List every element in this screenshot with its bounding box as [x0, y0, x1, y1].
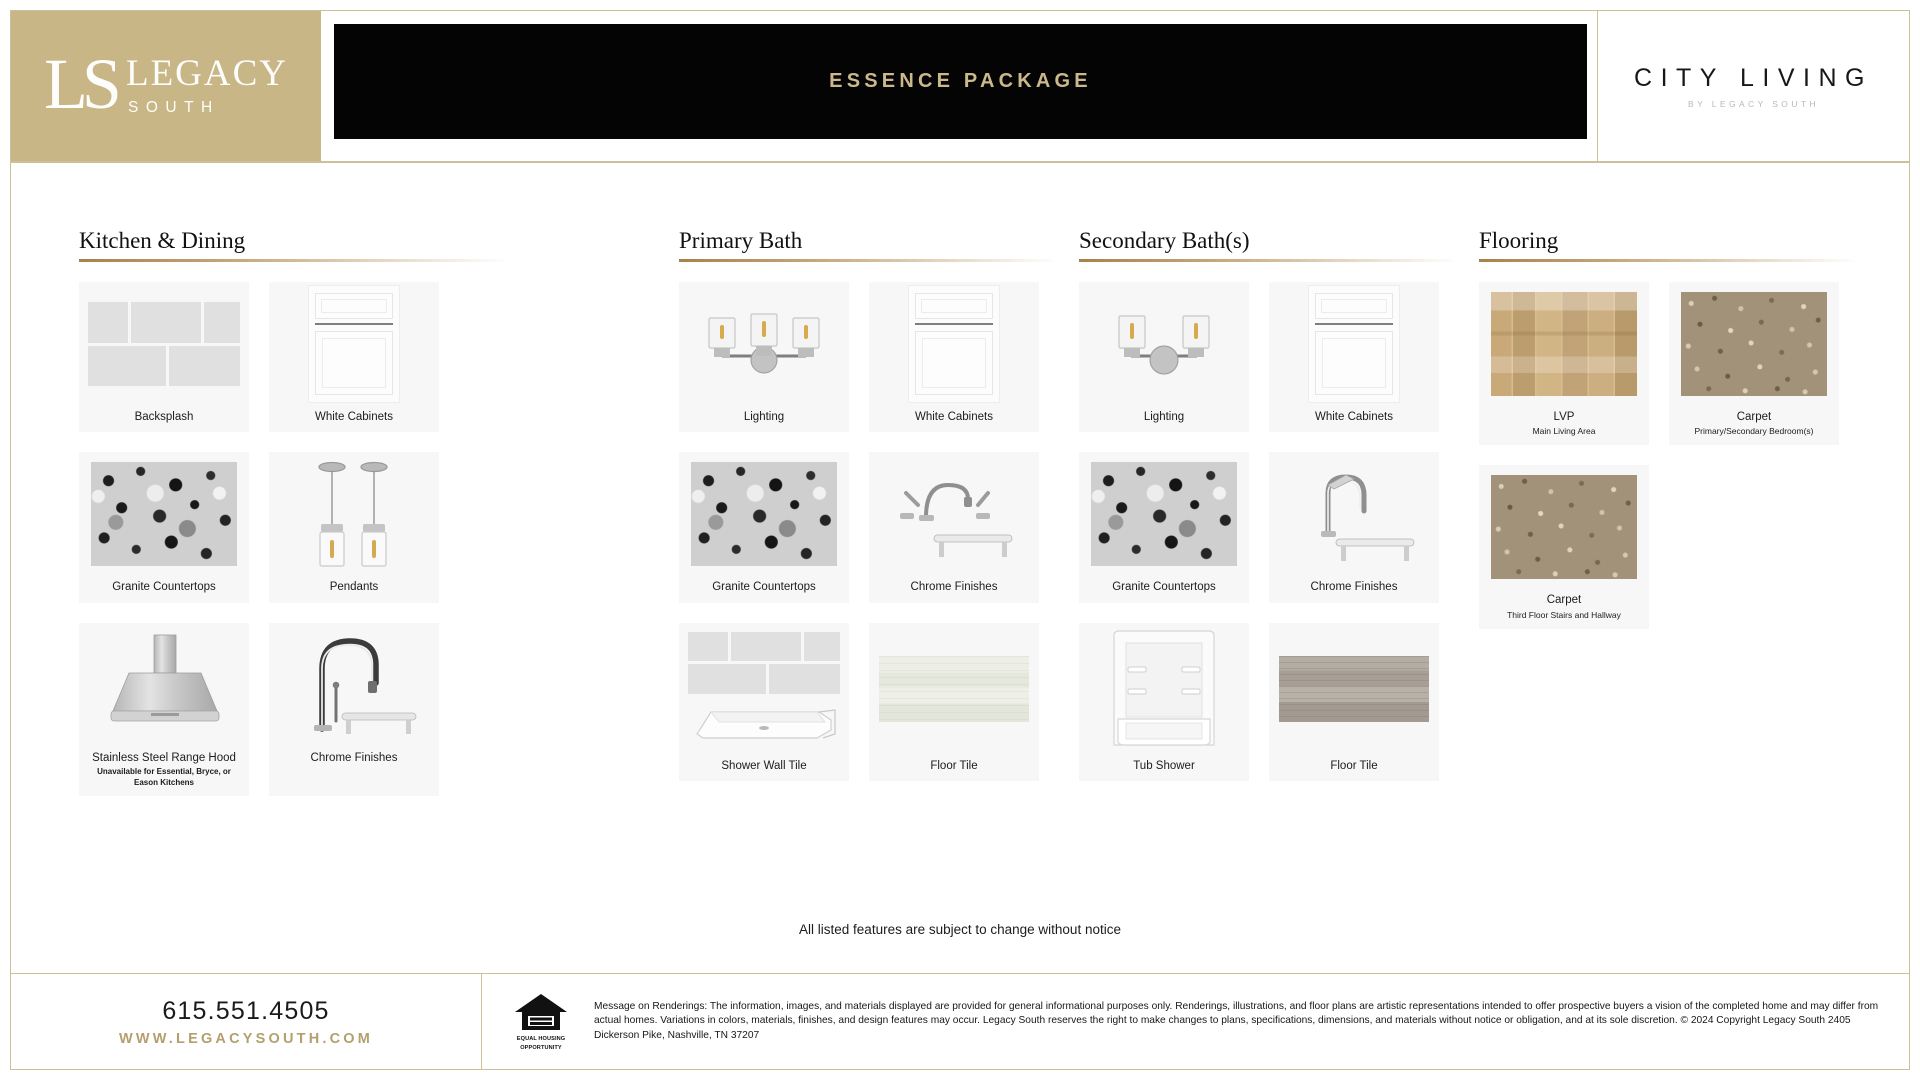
city-living-wordmark: CITY LIVING [1634, 64, 1873, 93]
tub-shower-icon [1104, 627, 1224, 751]
website-url[interactable]: WWW.LEGACYSOUTH.COM [119, 1031, 373, 1047]
tile-label: Carpet [1733, 410, 1776, 424]
section-title: Secondary Bath(s) [1079, 229, 1459, 252]
tile-chrome-finishes-kitchen[interactable]: Chrome Finishes [269, 623, 439, 796]
granite-swatch [79, 452, 249, 576]
footer-contact: 615.551.4505 WWW.LEGACYSOUTH.COM [11, 974, 481, 1069]
tile-label: Shower Wall Tile [717, 759, 810, 773]
granite-texture-icon [91, 462, 237, 566]
carpet-texture-icon [1681, 292, 1827, 396]
eho-caption-line2: OPPORTUNITY [510, 1045, 572, 1052]
logo-wordmark: LEGACY SOUTH [126, 55, 288, 117]
tile-label: LVP [1550, 410, 1579, 424]
tile-label: Lighting [740, 410, 788, 424]
section-primary-bath: Primary Bath [679, 229, 1059, 781]
floor-tile-swatch [869, 623, 1039, 755]
lvp-texture-icon [1491, 292, 1637, 396]
tile-tub-shower[interactable]: Tub Shower [1079, 623, 1249, 781]
tile-label: Carpet [1543, 593, 1586, 607]
tile-label: Backsplash [131, 410, 198, 424]
section-title: Kitchen & Dining [79, 229, 509, 252]
tile-white-cabinets[interactable]: White Cabinets [269, 282, 439, 432]
tile-label: White Cabinets [311, 410, 397, 424]
cabinet-swatch [269, 282, 439, 406]
tile-label: Chrome Finishes [907, 580, 1002, 594]
tile-white-cabinets-primary[interactable]: White Cabinets [869, 282, 1039, 432]
ls-monogram-icon: LS [44, 48, 116, 120]
tile-shower-wall-tile[interactable]: Shower Wall Tile [679, 623, 849, 781]
tile-label: Stainless Steel Range Hood [88, 751, 240, 765]
tile-chrome-finishes-secondary[interactable]: Chrome Finishes [1269, 452, 1439, 602]
tile-granite-primary[interactable]: Granite Countertops [679, 452, 849, 602]
section-tile-grid: Lighting White Cabinets [679, 282, 1059, 781]
tile-label: Chrome Finishes [1307, 580, 1402, 594]
range-hood-icon [99, 627, 229, 742]
floor-tile-grey-icon [1279, 656, 1429, 722]
logo-legacy-text: LEGACY [126, 55, 288, 92]
section-tile-grid: LVP Main Living Area Carpet Primary/Seco… [1479, 282, 1859, 629]
page-title: ESSENCE PACKAGE [829, 70, 1092, 93]
package-content: Kitchen & Dining Backsplash [11, 161, 1909, 973]
tile-floor-tile-primary[interactable]: Floor Tile [869, 623, 1039, 781]
section-title: Flooring [1479, 229, 1859, 252]
section-underline [1079, 259, 1459, 262]
section-secondary-bath: Secondary Bath(s) [1079, 229, 1459, 781]
cabinet-door-icon [1308, 285, 1400, 403]
section-title: Primary Bath [679, 229, 1059, 252]
tile-sublabel: Unavailable for Essential, Bryce, or Eas… [79, 767, 249, 788]
vanity-light-swatch [679, 282, 849, 406]
page-frame: LS LEGACY SOUTH ESSENCE PACKAGE CITY LIV… [10, 10, 1910, 1070]
cabinet-door-icon [908, 285, 1000, 403]
carpet-swatch [1479, 465, 1649, 589]
tile-label: Lighting [1140, 410, 1188, 424]
section-tile-grid: Lighting White Cabinets [1079, 282, 1459, 781]
tile-label: White Cabinets [911, 410, 997, 424]
cabinet-swatch [869, 282, 1039, 406]
tile-lvp[interactable]: LVP Main Living Area [1479, 282, 1649, 445]
tile-white-cabinets-secondary[interactable]: White Cabinets [1269, 282, 1439, 432]
granite-texture-icon [691, 462, 837, 566]
tile-backsplash[interactable]: Backsplash [79, 282, 249, 432]
tile-label: Granite Countertops [1108, 580, 1220, 594]
tile-sublabel: Main Living Area [1527, 426, 1602, 437]
tile-floor-tile-secondary[interactable]: Floor Tile [1269, 623, 1439, 781]
equal-housing-icon [513, 992, 569, 1034]
shower-pan-icon [689, 700, 839, 746]
subway-tile-icon [688, 632, 840, 694]
vanity-light-swatch [1079, 282, 1249, 406]
page-footer: 615.551.4505 WWW.LEGACYSOUTH.COM EQUAL H… [11, 973, 1909, 1069]
section-flooring: Flooring LVP Main Living Area [1479, 229, 1859, 629]
tile-chrome-finishes-primary[interactable]: Chrome Finishes [869, 452, 1039, 602]
eho-caption-line1: EQUAL HOUSING [510, 1036, 572, 1043]
tile-carpet-stairs[interactable]: Carpet Third Floor Stairs and Hallway [1479, 465, 1649, 628]
cabinet-swatch [1269, 282, 1439, 406]
floor-tile-light-icon [879, 656, 1029, 722]
legacy-south-logo: LS LEGACY SOUTH [11, 11, 321, 161]
pendants-swatch [269, 452, 439, 576]
widespread-faucet-swatch [869, 452, 1039, 576]
tile-label: Granite Countertops [708, 580, 820, 594]
tile-carpet-bedrooms[interactable]: Carpet Primary/Secondary Bedroom(s) [1669, 282, 1839, 445]
floor-tile-swatch [1269, 623, 1439, 755]
granite-swatch [679, 452, 849, 576]
vanity-light-2-icon [1089, 294, 1239, 394]
package-title-bar: ESSENCE PACKAGE [334, 24, 1587, 139]
tub-shower-swatch [1079, 623, 1249, 755]
tile-sublabel: Third Floor Stairs and Hallway [1501, 610, 1627, 621]
tile-label: Pendants [326, 580, 383, 594]
carpet-texture-icon [1491, 475, 1637, 579]
tile-sublabel: Primary/Secondary Bedroom(s) [1688, 426, 1819, 437]
bath-faucet-icon [1284, 459, 1424, 569]
tile-lighting-primary[interactable]: Lighting [679, 282, 849, 432]
tile-granite-secondary[interactable]: Granite Countertops [1079, 452, 1249, 602]
equal-housing-logo: EQUAL HOUSING OPPORTUNITY [510, 992, 572, 1052]
cabinet-door-icon [308, 285, 400, 403]
carpet-swatch [1669, 282, 1839, 406]
subway-tile-icon [88, 302, 240, 386]
granite-texture-icon [1091, 462, 1237, 566]
section-underline [1479, 259, 1859, 262]
brochure-page: LS LEGACY SOUTH ESSENCE PACKAGE CITY LIV… [0, 0, 1920, 1080]
footer-legal: EQUAL HOUSING OPPORTUNITY Message on Ren… [481, 974, 1909, 1069]
tile-label: Floor Tile [926, 759, 981, 773]
change-notice: All listed features are subject to chang… [11, 922, 1909, 937]
granite-swatch [1079, 452, 1249, 576]
logo-south-text: SOUTH [128, 99, 220, 117]
section-underline [679, 259, 1059, 262]
bath-faucet-swatch [1269, 452, 1439, 576]
tile-lighting-secondary[interactable]: Lighting [1079, 282, 1249, 432]
page-header: LS LEGACY SOUTH ESSENCE PACKAGE CITY LIV… [11, 11, 1909, 161]
tile-label: Tub Shower [1129, 759, 1199, 773]
section-kitchen-dining: Kitchen & Dining Backsplash [79, 229, 509, 796]
city-living-byline: BY LEGACY SOUTH [1688, 99, 1819, 109]
section-underline [79, 259, 509, 262]
kitchen-faucet-icon [284, 625, 424, 745]
tile-granite-countertops[interactable]: Granite Countertops [79, 452, 249, 602]
tile-range-hood[interactable]: Stainless Steel Range Hood Unavailable f… [79, 623, 249, 796]
tile-label: Floor Tile [1326, 759, 1381, 773]
disclaimer-text: Message on Renderings: The information, … [594, 1000, 1885, 1043]
vanity-light-3-icon [689, 294, 839, 394]
title-bar-wrapper: ESSENCE PACKAGE [321, 11, 1597, 161]
backsplash-swatch [79, 282, 249, 406]
lvp-swatch [1479, 282, 1649, 406]
phone-number[interactable]: 615.551.4505 [162, 997, 329, 1026]
tile-pendants[interactable]: Pendants [269, 452, 439, 602]
range-hood-swatch [79, 623, 249, 747]
tile-label: Granite Countertops [108, 580, 220, 594]
shower-wall-swatch [679, 623, 849, 755]
section-tile-grid: Backsplash White Cabinets [79, 282, 509, 796]
pendant-light-icon [294, 454, 414, 574]
widespread-faucet-icon [884, 459, 1024, 569]
tile-label: Chrome Finishes [307, 751, 402, 765]
kitchen-faucet-swatch [269, 623, 439, 747]
city-living-logo: CITY LIVING BY LEGACY SOUTH [1597, 11, 1909, 161]
tile-label: White Cabinets [1311, 410, 1397, 424]
